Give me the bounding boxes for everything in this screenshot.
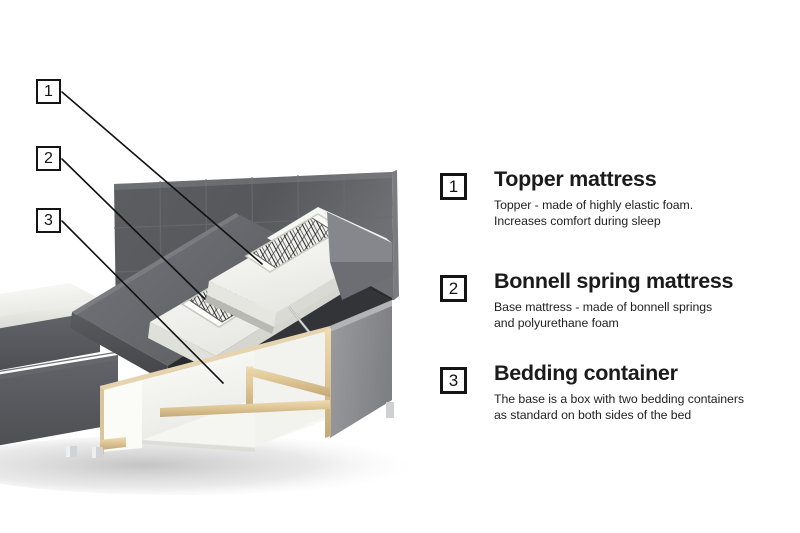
legend-desc-2-line-1: Base mattress - made of bonnell springs [494, 299, 800, 316]
legend-body-1: Topper mattress Topper - made of highly … [494, 168, 800, 230]
legend-number-3: 3 [440, 367, 467, 394]
legend-desc-2-line-2: and polyurethane foam [494, 315, 800, 332]
legend-desc-1-line-1: Topper - made of highly elastic foam. [494, 197, 800, 214]
legend-number-1: 1 [440, 173, 467, 200]
legend-title-2: Bonnell spring mattress [494, 270, 800, 293]
bed-cutaway-svg [0, 0, 430, 533]
legend-desc-3-line-2: as standard on both sides of the bed [494, 407, 800, 424]
legend-body-3: Bedding container The base is a box with… [494, 362, 800, 424]
legend-number-2: 2 [440, 275, 467, 302]
legend-title-1: Topper mattress [494, 168, 800, 191]
legend-panel: 1 Topper mattress Topper - made of highl… [438, 0, 800, 533]
legend-desc-3-line-1: The base is a box with two bedding conta… [494, 391, 800, 408]
legend-desc-3: The base is a box with two bedding conta… [494, 391, 800, 424]
legend-desc-1: Topper - made of highly elastic foam. In… [494, 197, 800, 230]
floor-shadow [0, 435, 410, 495]
legend-title-3: Bedding container [494, 362, 800, 385]
callout-box-2[interactable]: 2 [36, 146, 61, 171]
diagram-page: 1 2 3 1 Topper mattress Topper - made of… [0, 0, 800, 533]
callout-box-1[interactable]: 1 [36, 79, 61, 104]
legend-body-2: Bonnell spring mattress Base mattress - … [494, 270, 800, 332]
legend-desc-2: Base mattress - made of bonnell springs … [494, 299, 800, 332]
callout-box-3[interactable]: 3 [36, 208, 61, 233]
bed-illustration: 1 2 3 [0, 0, 430, 533]
legend-desc-1-line-2: Increases comfort during sleep [494, 213, 800, 230]
